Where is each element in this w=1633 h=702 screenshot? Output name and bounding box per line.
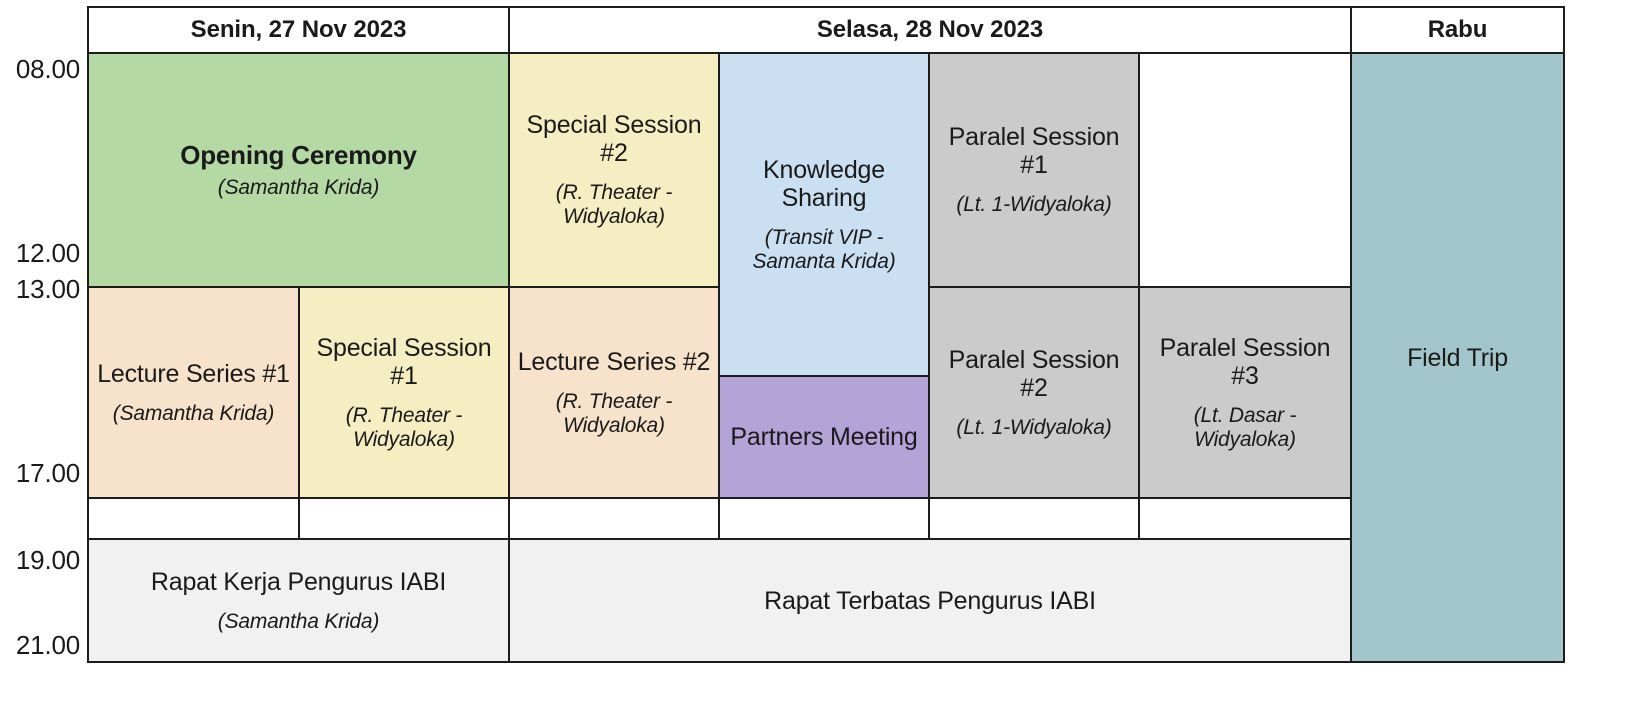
time-label-2100: 21.00: [0, 632, 80, 658]
event-title: Field Trip: [1407, 344, 1508, 372]
event-title: Paralel Session #1: [936, 123, 1132, 179]
break-cell-5: [928, 497, 1140, 540]
event-rapat-terbatas[interactable]: Rapat Terbatas Pengurus IABI: [508, 538, 1352, 663]
event-venue: (Samantha Krida): [218, 176, 379, 200]
event-venue: (R. Theater - Widyaloka): [306, 404, 502, 451]
event-title: Special Session #1: [306, 334, 502, 390]
schedule-table: 08.00 12.00 13.00 17.00 19.00 21.00 Seni…: [0, 0, 1633, 702]
event-paralel-session-1[interactable]: Paralel Session #1 (Lt. 1-Widyaloka): [928, 52, 1140, 288]
event-empty-morning: [1138, 52, 1352, 288]
time-label-1300: 13.00: [0, 276, 80, 302]
event-title: Lecture Series #1: [97, 360, 290, 388]
event-title: Knowledge Sharing: [726, 156, 922, 212]
break-cell-3: [508, 497, 720, 540]
event-lecture-series-1[interactable]: Lecture Series #1 (Samantha Krida): [87, 286, 300, 499]
day-header-senin: Senin, 27 Nov 2023: [87, 6, 510, 54]
event-venue: (R. Theater - Widyaloka): [516, 390, 712, 437]
event-venue: (R. Theater - Widyaloka): [516, 181, 712, 228]
event-title: Partners Meeting: [730, 423, 917, 451]
time-label-1700: 17.00: [0, 460, 80, 486]
time-label-0800: 08.00: [0, 56, 80, 82]
day-header-selasa: Selasa, 28 Nov 2023: [508, 6, 1352, 54]
event-paralel-session-3[interactable]: Paralel Session #3 (Lt. Dasar - Widyalok…: [1138, 286, 1352, 499]
event-title: Rapat Terbatas Pengurus IABI: [764, 587, 1096, 615]
break-cell-4: [718, 497, 930, 540]
event-title: Paralel Session #3: [1146, 334, 1344, 390]
event-partners-meeting[interactable]: Partners Meeting: [718, 375, 930, 499]
break-cell-6: [1138, 497, 1352, 540]
event-title: Paralel Session #2: [936, 346, 1132, 402]
event-venue: (Samantha Krida): [218, 610, 379, 634]
schedule-grid: Senin, 27 Nov 2023 Selasa, 28 Nov 2023 R…: [87, 6, 1565, 663]
event-knowledge-sharing[interactable]: Knowledge Sharing (Transit VIP - Samanta…: [718, 52, 930, 377]
event-special-session-1[interactable]: Special Session #1 (R. Theater - Widyalo…: [298, 286, 510, 499]
event-title: Rapat Kerja Pengurus IABI: [151, 568, 446, 596]
event-opening-ceremony[interactable]: Opening Ceremony (Samantha Krida): [87, 52, 510, 288]
event-venue: (Lt. 1-Widyaloka): [956, 416, 1111, 440]
event-title: Special Session #2: [516, 111, 712, 167]
break-cell-1: [87, 497, 300, 540]
break-cell-2: [298, 497, 510, 540]
time-label-1900: 19.00: [0, 547, 80, 573]
event-lecture-series-2[interactable]: Lecture Series #2 (R. Theater - Widyalok…: [508, 286, 720, 499]
event-title: Opening Ceremony: [180, 141, 417, 170]
day-header-rabu: Rabu: [1350, 6, 1565, 54]
event-field-trip[interactable]: Field Trip: [1350, 52, 1565, 663]
event-rapat-kerja[interactable]: Rapat Kerja Pengurus IABI (Samantha Krid…: [87, 538, 510, 663]
event-paralel-session-2[interactable]: Paralel Session #2 (Lt. 1-Widyaloka): [928, 286, 1140, 499]
time-label-1200: 12.00: [0, 240, 80, 266]
event-special-session-2[interactable]: Special Session #2 (R. Theater - Widyalo…: [508, 52, 720, 288]
event-venue: (Lt. 1-Widyaloka): [956, 193, 1111, 217]
event-venue: (Samantha Krida): [113, 402, 274, 426]
event-venue: (Lt. Dasar - Widyaloka): [1146, 404, 1344, 451]
event-venue: (Transit VIP - Samanta Krida): [726, 226, 922, 273]
event-title: Lecture Series #2: [518, 348, 711, 376]
